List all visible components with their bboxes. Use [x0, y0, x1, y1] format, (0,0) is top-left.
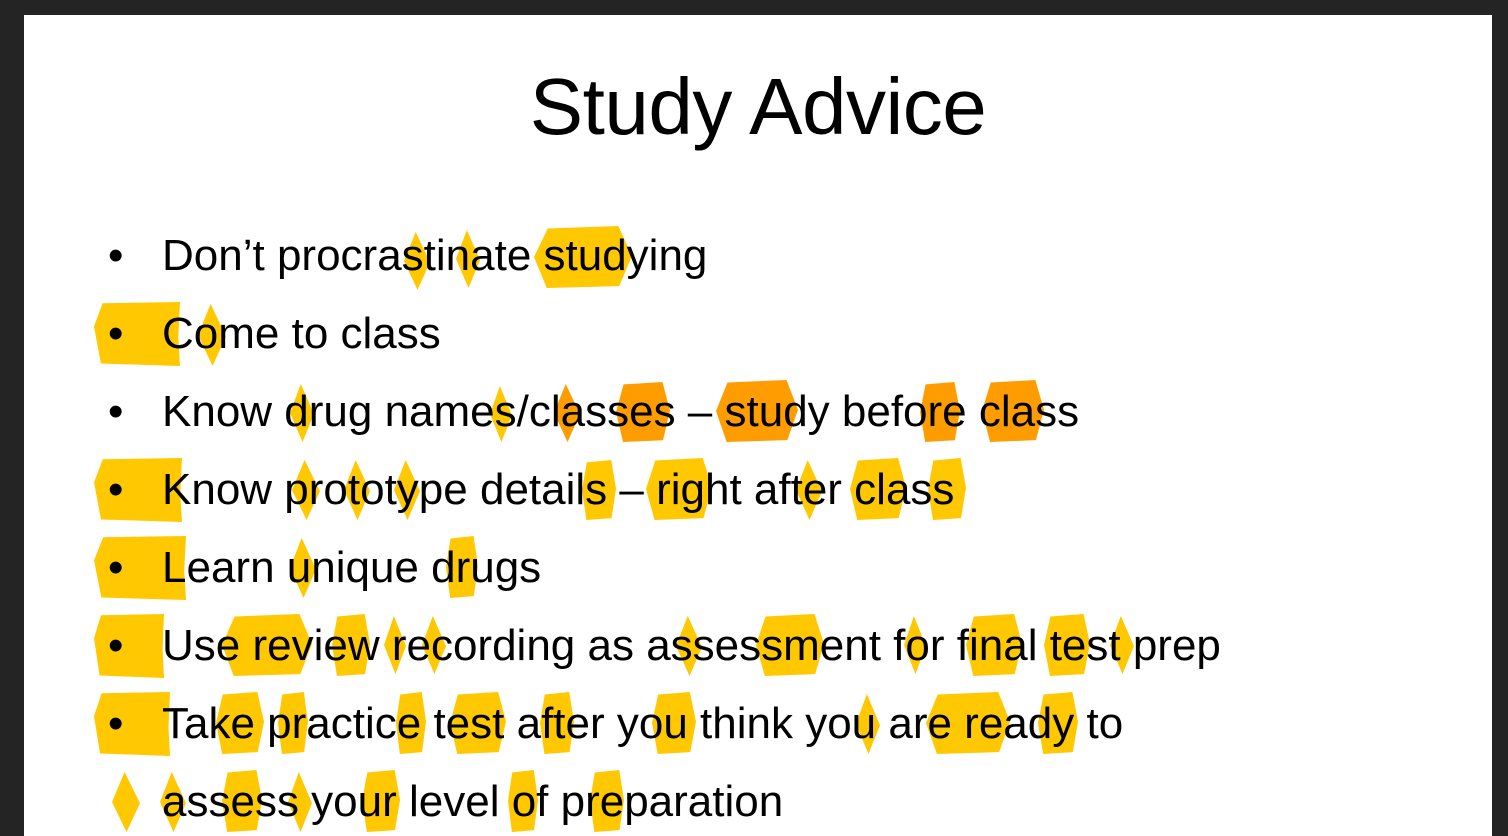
list-item-label: Come to class	[162, 298, 1474, 369]
list-item[interactable]: •Take practice test after you think you …	[94, 688, 1474, 759]
bullet-marker-icon: •	[94, 298, 162, 369]
list-item[interactable]: •Learn unique drugs	[94, 532, 1474, 603]
bullet-list: •Don’t procrastinate studying•Come to cl…	[94, 220, 1474, 836]
highlight-mark	[112, 772, 140, 832]
list-item[interactable]: •Use review recording as assessment for …	[94, 610, 1474, 681]
slide-canvas: Study Advice •Don’t procrastinate studyi…	[24, 15, 1492, 836]
slide-frame: Study Advice •Don’t procrastinate studyi…	[0, 0, 1508, 836]
list-item[interactable]: •Don’t procrastinate studying	[94, 220, 1474, 291]
bullet-marker-icon: •	[94, 220, 162, 291]
list-item-label: Don’t procrastinate studying	[162, 220, 1474, 291]
bullet-marker-icon: •	[94, 610, 162, 681]
list-item-label: Learn unique drugs	[162, 532, 1474, 603]
bullet-marker-icon: •	[94, 454, 162, 525]
page-title: Study Advice	[24, 67, 1492, 147]
list-item[interactable]: •Know prototype details – right after cl…	[94, 454, 1474, 525]
bullet-marker-icon: •	[94, 688, 162, 759]
list-item-label: Take practice test after you think you a…	[162, 688, 1474, 759]
list-item[interactable]: •Come to class	[94, 298, 1474, 369]
list-item[interactable]: assess your level of preparation	[94, 766, 1474, 836]
bullet-marker-icon: •	[94, 376, 162, 447]
list-item-label: Know prototype details – right after cla…	[162, 454, 1474, 525]
bullet-marker-icon: •	[94, 532, 162, 603]
list-item[interactable]: •Know drug names/classes – study before …	[94, 376, 1474, 447]
list-item-label: assess your level of preparation	[162, 766, 1474, 836]
list-item-label: Use review recording as assessment for f…	[162, 610, 1474, 681]
list-item-label: Know drug names/classes – study before c…	[162, 376, 1474, 447]
